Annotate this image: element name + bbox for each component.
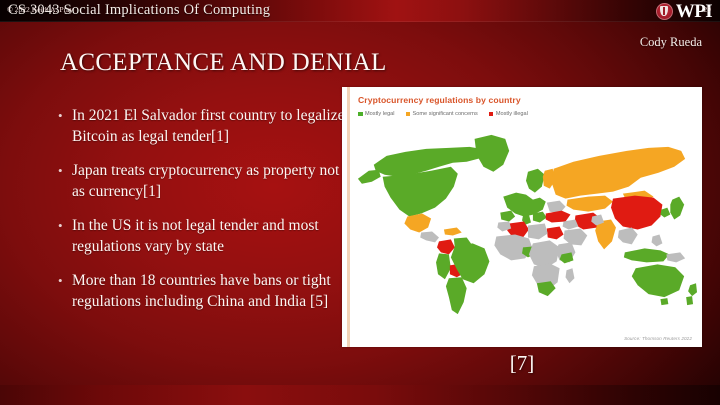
region-argentina-chile: [446, 277, 467, 314]
figure-caption: [7]: [342, 351, 702, 376]
list-item: • In the US it is not legal tender and m…: [56, 216, 346, 257]
legend-item-mostly-legal: Mostly legal: [358, 111, 395, 117]
legend-item-mostly-illegal: Mostly illegal: [489, 111, 528, 117]
map-source-attribution: Source: Thomson Reuters 2022: [624, 336, 692, 341]
region-iberia: [500, 211, 515, 222]
region-peru: [436, 253, 451, 279]
bullet-dot-icon: •: [56, 106, 72, 147]
bullet-list: • In 2021 El Salvador first country to l…: [56, 106, 346, 326]
bullet-text: More than 18 countries have bans or tigh…: [72, 271, 346, 312]
legend-label: Mostly illegal: [496, 111, 528, 117]
slide-title: ACCEPTANCE AND DENIAL: [60, 48, 387, 78]
region-greenland: [475, 135, 510, 172]
region-russia: [552, 147, 685, 199]
region-mexico: [404, 214, 431, 233]
bullet-dot-icon: •: [56, 216, 72, 257]
author-name: Cody Rueda: [640, 35, 702, 50]
region-alaska: [358, 170, 381, 184]
figure-image-panel: Cryptocurrency regulations by country Mo…: [342, 87, 702, 347]
bullet-dot-icon: •: [56, 161, 72, 202]
region-turkey: [546, 211, 571, 223]
region-central-africa: [529, 240, 560, 268]
region-new-zealand: [688, 283, 697, 296]
region-scandinavia: [526, 169, 545, 193]
legend-label: Mostly legal: [365, 111, 395, 117]
region-saudi-arabia: [564, 228, 588, 245]
region-philippines: [652, 234, 663, 246]
legend-item-some-concerns: Some significant concerns: [406, 111, 478, 117]
region-indonesia: [624, 248, 669, 262]
world-choropleth-map: [352, 119, 698, 333]
legend-label: Some significant concerns: [413, 111, 478, 117]
region-southeast-asia: [618, 227, 638, 244]
legend-swatch-orange-icon: [406, 112, 411, 117]
bullet-text: In 2021 El Salvador first country to leg…: [72, 106, 346, 147]
presentation-slide: CS 3043 Social Implications Of Computing…: [0, 0, 720, 405]
region-colombia: [437, 239, 455, 254]
region-egypt: [547, 226, 564, 239]
bullet-text: Japan treats cryptocurrency as property …: [72, 161, 346, 202]
footer-page-number: 29: [703, 5, 711, 14]
list-item: • In 2021 El Salvador first country to l…: [56, 106, 346, 147]
list-item: • More than 18 countries have bans or ti…: [56, 271, 346, 312]
world-map-svg: [352, 119, 698, 333]
region-madagascar: [566, 268, 575, 283]
region-balkans: [533, 212, 547, 223]
region-caribbean: [444, 227, 462, 235]
bullet-dot-icon: •: [56, 271, 72, 312]
region-korea: [660, 208, 670, 218]
footer-copyright: © 2022 Keith A. Pray: [7, 5, 73, 14]
region-central-america: [420, 231, 439, 242]
region-central-asia: [567, 196, 613, 212]
panel-accent-stripe: [347, 87, 350, 347]
region-australia: [632, 264, 684, 297]
wpi-seal-icon: [656, 3, 673, 20]
map-legend: Mostly legal Some significant concerns M…: [358, 111, 528, 117]
region-new-guinea: [666, 252, 685, 262]
slide-footer-bar: [0, 385, 720, 405]
region-japan: [670, 197, 684, 220]
region-china: [611, 196, 662, 230]
list-item: • Japan treats cryptocurrency as propert…: [56, 161, 346, 202]
map-title: Cryptocurrency regulations by country: [358, 95, 521, 105]
region-tasmania: [660, 298, 668, 305]
legend-swatch-green-icon: [358, 112, 363, 117]
region-new-zealand-south: [686, 296, 693, 305]
legend-swatch-red-icon: [489, 112, 494, 117]
region-brazil: [451, 243, 490, 283]
bullet-text: In the US it is not legal tender and mos…: [72, 216, 346, 257]
region-libya: [528, 224, 548, 240]
